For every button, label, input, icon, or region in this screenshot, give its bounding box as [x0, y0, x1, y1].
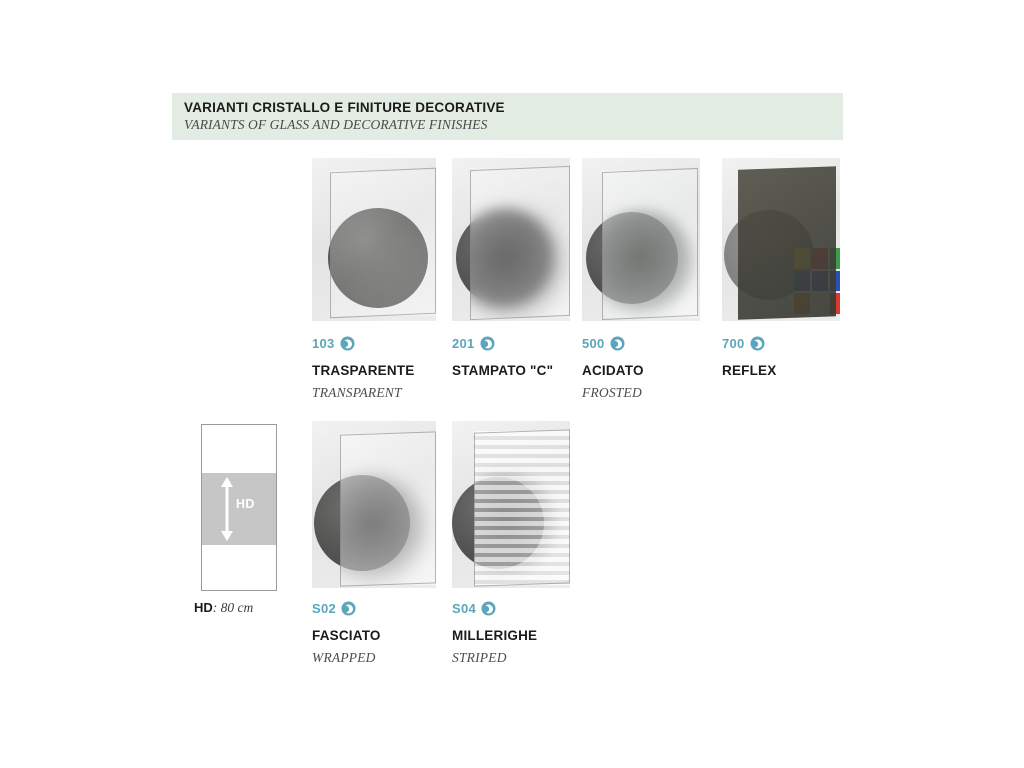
sample-name-it: FASCIATO — [312, 628, 381, 643]
sample-image-stampato-c — [452, 158, 570, 321]
sample-image-fasciato — [312, 421, 436, 588]
glass-pane-edge — [330, 168, 436, 319]
sample-code: S02 — [312, 601, 336, 616]
glass-pane-edge — [340, 431, 436, 586]
section-header-band: VARIANTI CRISTALLO E FINITURE DECORATIVE… — [172, 93, 843, 140]
code-row-s02: S02 — [312, 601, 356, 616]
glass-finish-icon — [341, 601, 356, 616]
sample-card-103[interactable]: 103 TRASPARENTE TRANSPARENT — [312, 158, 436, 321]
sample-image-acidato — [582, 158, 700, 321]
sample-card-s02[interactable]: S02 FASCIATO WRAPPED — [312, 421, 436, 588]
sample-name-it: TRASPARENTE — [312, 363, 414, 378]
glass-finish-icon — [750, 336, 765, 351]
sample-name-it: ACIDATO — [582, 363, 644, 378]
sample-card-201[interactable]: 201 STAMPATO "C" — [452, 158, 570, 321]
sample-code: 700 — [722, 336, 745, 351]
glass-pane-reflex-tint — [738, 166, 836, 319]
hd-band-label: HD — [236, 497, 255, 511]
page-subtitle: VARIANTS OF GLASS AND DECORATIVE FINISHE… — [184, 116, 843, 134]
sample-card-500[interactable]: 500 ACIDATO FROSTED — [582, 158, 700, 321]
sample-image-millerighe — [452, 421, 570, 588]
sample-image-trasparente — [312, 158, 436, 321]
sample-card-700[interactable]: 700 REFLEX — [722, 158, 840, 321]
sample-image-reflex — [722, 158, 840, 321]
glass-finish-icon — [480, 336, 495, 351]
sample-name-it: MILLERIGHE — [452, 628, 537, 643]
sample-name-it: STAMPATO "C" — [452, 363, 553, 378]
sample-code: 103 — [312, 336, 335, 351]
sample-name-en: STRIPED — [452, 650, 507, 666]
sample-code: 201 — [452, 336, 475, 351]
code-row-700: 700 — [722, 336, 765, 351]
glass-finish-icon — [481, 601, 496, 616]
code-row-500: 500 — [582, 336, 625, 351]
sample-name-en: TRANSPARENT — [312, 385, 402, 401]
page-title: VARIANTI CRISTALLO E FINITURE DECORATIVE — [184, 99, 843, 116]
glass-finish-icon — [340, 336, 355, 351]
code-row-201: 201 — [452, 336, 495, 351]
sample-code: S04 — [452, 601, 476, 616]
hd-double-arrow-icon — [220, 477, 234, 541]
hd-caption: HD: 80 cm — [194, 600, 253, 616]
sample-code: 500 — [582, 336, 605, 351]
hd-caption-key: HD — [194, 600, 213, 615]
code-row-s04: S04 — [452, 601, 496, 616]
glass-finish-icon — [610, 336, 625, 351]
sample-name-en: WRAPPED — [312, 650, 376, 666]
sample-name-en: FROSTED — [582, 385, 642, 401]
glass-pane-edge — [470, 166, 570, 320]
sample-card-s04[interactable]: S04 MILLERIGHE STRIPED — [452, 421, 570, 588]
glass-pane-edge — [474, 429, 570, 586]
sample-name-it: REFLEX — [722, 363, 776, 378]
hd-diagram: HD — [201, 424, 277, 591]
code-row-103: 103 — [312, 336, 355, 351]
glass-pane-edge — [602, 168, 698, 320]
hd-caption-value: : 80 cm — [213, 600, 254, 615]
